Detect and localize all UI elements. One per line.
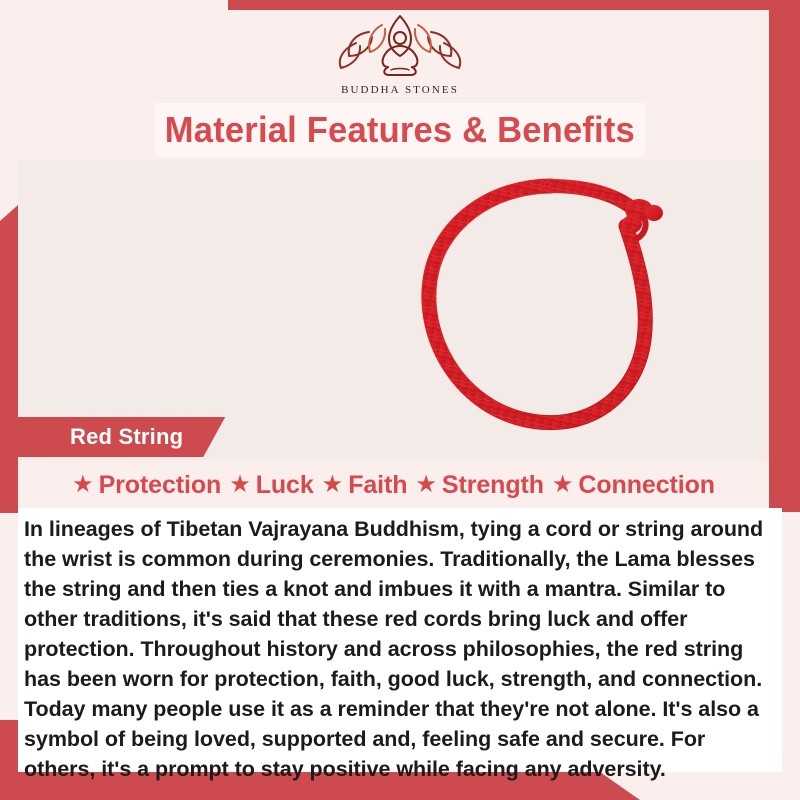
star-icon: ★ xyxy=(415,473,437,497)
benefit-item: ★ Protection xyxy=(72,471,221,500)
star-icon: ★ xyxy=(72,473,94,497)
benefit-label: Protection xyxy=(99,471,222,500)
benefit-item: ★ Luck xyxy=(229,471,313,500)
benefit-item: ★ Faith xyxy=(322,471,408,500)
description-text: In lineages of Tibetan Vajrayana Buddhis… xyxy=(24,514,764,784)
star-icon: ★ xyxy=(229,473,251,497)
ribbon-text: Red String xyxy=(70,424,183,450)
decorative-band-left xyxy=(0,205,18,513)
benefit-label: Luck xyxy=(256,471,314,500)
page-title: Material Features & Benefits xyxy=(165,109,635,151)
star-icon: ★ xyxy=(322,473,344,497)
brand-logo: BUDDHA STONES xyxy=(0,12,800,104)
poster-root: BUDDHA STONES Material Features & Benefi… xyxy=(0,0,800,800)
description-panel: In lineages of Tibetan Vajrayana Buddhis… xyxy=(18,508,782,772)
product-ribbon-label: Red String xyxy=(18,417,225,457)
star-icon: ★ xyxy=(552,473,574,497)
lotus-meditation-icon xyxy=(325,12,475,83)
benefit-item: ★ Connection xyxy=(552,471,715,500)
brand-name: BUDDHA STONES xyxy=(341,84,459,96)
benefit-label: Strength xyxy=(442,471,544,500)
red-braided-string-bracelet-image xyxy=(386,168,716,463)
title-plate: Material Features & Benefits xyxy=(155,103,645,157)
benefit-label: Connection xyxy=(578,471,715,500)
product-image-area xyxy=(18,160,769,460)
benefit-item: ★ Strength xyxy=(415,471,544,500)
benefit-label: Faith xyxy=(348,471,407,500)
decorative-band-top xyxy=(228,0,800,10)
benefits-row: ★ Protection ★ Luck ★ Faith ★ Strength ★… xyxy=(18,462,769,508)
